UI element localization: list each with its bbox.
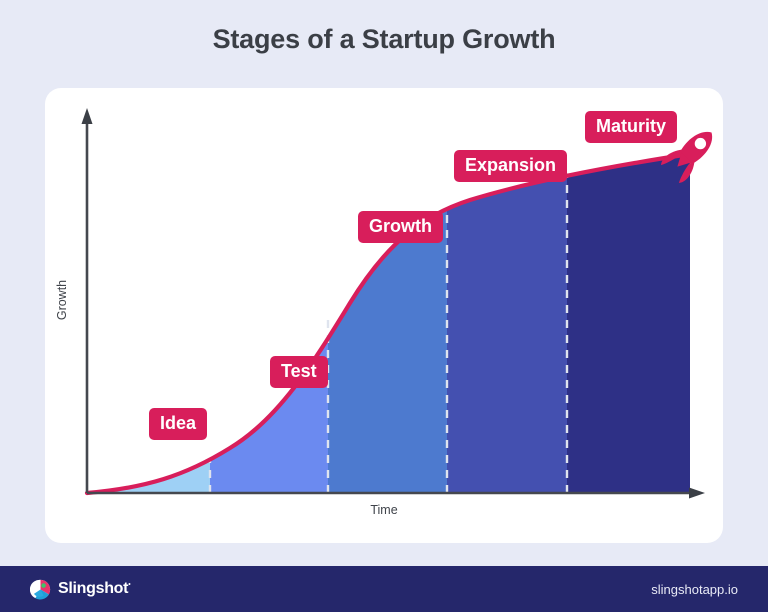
brand-logo[interactable]: Slingshot• bbox=[30, 566, 130, 612]
x-axis-label: Time bbox=[45, 503, 723, 517]
stage-badge-growth[interactable]: Growth bbox=[358, 211, 443, 243]
y-axis-label: Growth bbox=[55, 265, 69, 335]
stage-band-growth bbox=[328, 138, 447, 493]
footer-website-url[interactable]: slingshotapp.io bbox=[651, 566, 738, 612]
stage-badge-maturity[interactable]: Maturity bbox=[585, 111, 677, 143]
trademark-mark: • bbox=[128, 582, 130, 589]
chart-card: Time Growth Idea Test Growth Expansion M… bbox=[45, 88, 723, 543]
stage-band-maturity bbox=[567, 138, 692, 493]
chart-plot-area: Time Growth Idea Test Growth Expansion M… bbox=[45, 88, 723, 543]
infographic-root: Stages of a Startup Growth bbox=[0, 0, 768, 612]
stage-badge-expansion[interactable]: Expansion bbox=[454, 150, 567, 182]
brand-name: Slingshot• bbox=[58, 580, 130, 598]
page-title: Stages of a Startup Growth bbox=[0, 24, 768, 55]
stage-badge-idea[interactable]: Idea bbox=[149, 408, 207, 440]
stage-badge-test[interactable]: Test bbox=[270, 356, 328, 388]
growth-curve-chart bbox=[45, 88, 723, 543]
stage-band-test bbox=[210, 138, 328, 493]
footer-bar: Slingshot• slingshotapp.io bbox=[0, 566, 768, 612]
y-axis bbox=[82, 108, 93, 493]
slingshot-logo-icon bbox=[30, 579, 51, 600]
